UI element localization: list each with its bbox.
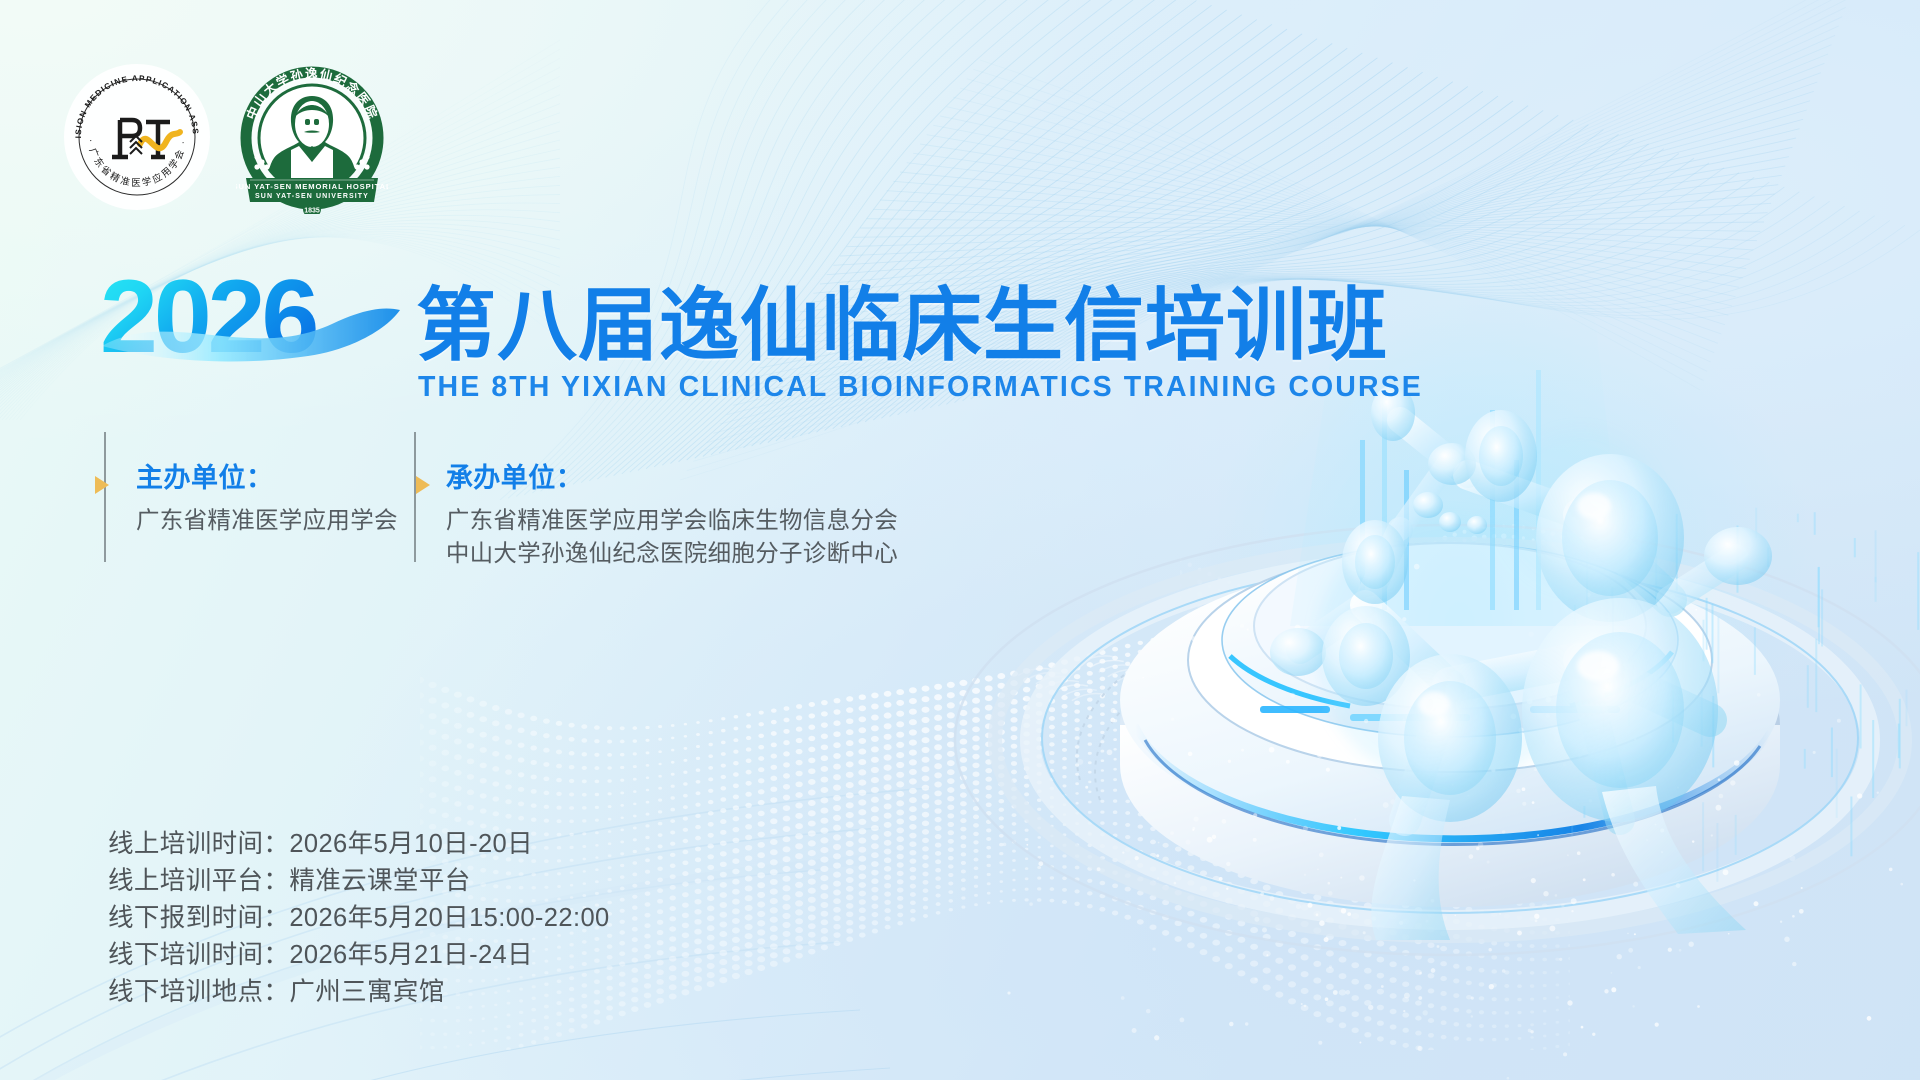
divider-rule [104, 432, 106, 562]
svg-text:SUN YAT-SEN UNIVERSITY: SUN YAT-SEN UNIVERSITY [255, 193, 369, 200]
divider-rule [414, 432, 416, 562]
organizer-column-coorganizer: 承办单位： 广东省精准医学应用学会临床生物信息分会 中山大学孙逸仙纪念医院细胞分… [414, 432, 898, 570]
host-item: 广东省精准医学应用学会 [136, 504, 398, 537]
course-title-en: THE 8TH YIXIAN CLINICAL BIOINFORMATICS T… [418, 371, 1423, 404]
info-label: 线下培训地点： [108, 978, 289, 1006]
triangle-marker-icon [416, 476, 430, 494]
info-label: 线上培训平台： [108, 867, 289, 895]
info-label: 线下培训时间： [108, 941, 289, 969]
info-line: 线下培训时间：2026年5月21日-24日 [108, 937, 610, 974]
info-value: 精准云课堂平台 [289, 867, 470, 895]
info-line: 线下报到时间：2026年5月20日15:00-22:00 [108, 900, 610, 937]
organizers-block: 主办单位： 广东省精准医学应用学会 承办单位： 广东省精准医学应用学会临床生物信… [104, 432, 898, 570]
dotted-wave-secondary-icon [1180, 520, 1700, 780]
logo-gd-precision-medicine-association: GD PRECISION MEDICINE APPLICATION ASSOCI… [62, 62, 212, 212]
info-label: 线下报到时间： [108, 904, 289, 932]
svg-text:1835: 1835 [304, 208, 320, 215]
info-value: 2026年5月20日15:00-22:00 [289, 904, 609, 932]
organizer-column-host: 主办单位： 广东省精准医学应用学会 [104, 432, 398, 570]
line-mesh-icon [380, 0, 1920, 500]
info-value: 2026年5月21日-24日 [289, 941, 533, 969]
coorganizer-heading: 承办单位： [446, 456, 898, 495]
poster-canvas: GD PRECISION MEDICINE APPLICATION ASSOCI… [0, 0, 1920, 1080]
info-line: 线下培训地点：广州三寓宾馆 [108, 974, 610, 1011]
info-label: 线上培训时间： [108, 830, 289, 858]
info-block: 线上培训时间：2026年5月10日-20日 线上培训平台：精准云课堂平台 线下报… [108, 826, 610, 1011]
coorganizer-item: 广东省精准医学应用学会临床生物信息分会 [446, 504, 898, 537]
info-value: 2026年5月10日-20日 [289, 830, 533, 858]
info-line: 线上培训时间：2026年5月10日-20日 [108, 826, 610, 863]
svg-text:SUN YAT-SEN MEMORIAL HOSPITAL: SUN YAT-SEN MEMORIAL HOSPITAL [236, 182, 388, 191]
logo-row: GD PRECISION MEDICINE APPLICATION ASSOCI… [62, 62, 388, 214]
host-heading: 主办单位： [136, 456, 398, 495]
triangle-marker-icon [95, 476, 109, 494]
info-line: 线上培训平台：精准云课堂平台 [108, 863, 610, 900]
info-value: 广州三寓宾馆 [289, 978, 444, 1006]
title-block: 2026 第八届逸仙临床生信培训班 THE 8TH YIXIAN CLINICA… [100, 258, 1423, 404]
logo-sun-yat-sen-memorial-hospital: 中山大学孙逸仙纪念医院 [236, 62, 388, 214]
course-title-cn: 第八届逸仙临床生信培训班 [416, 284, 1388, 368]
coorganizer-item: 中山大学孙逸仙纪念医院细胞分子诊断中心 [446, 537, 898, 570]
year-logo: 2026 [100, 258, 410, 366]
